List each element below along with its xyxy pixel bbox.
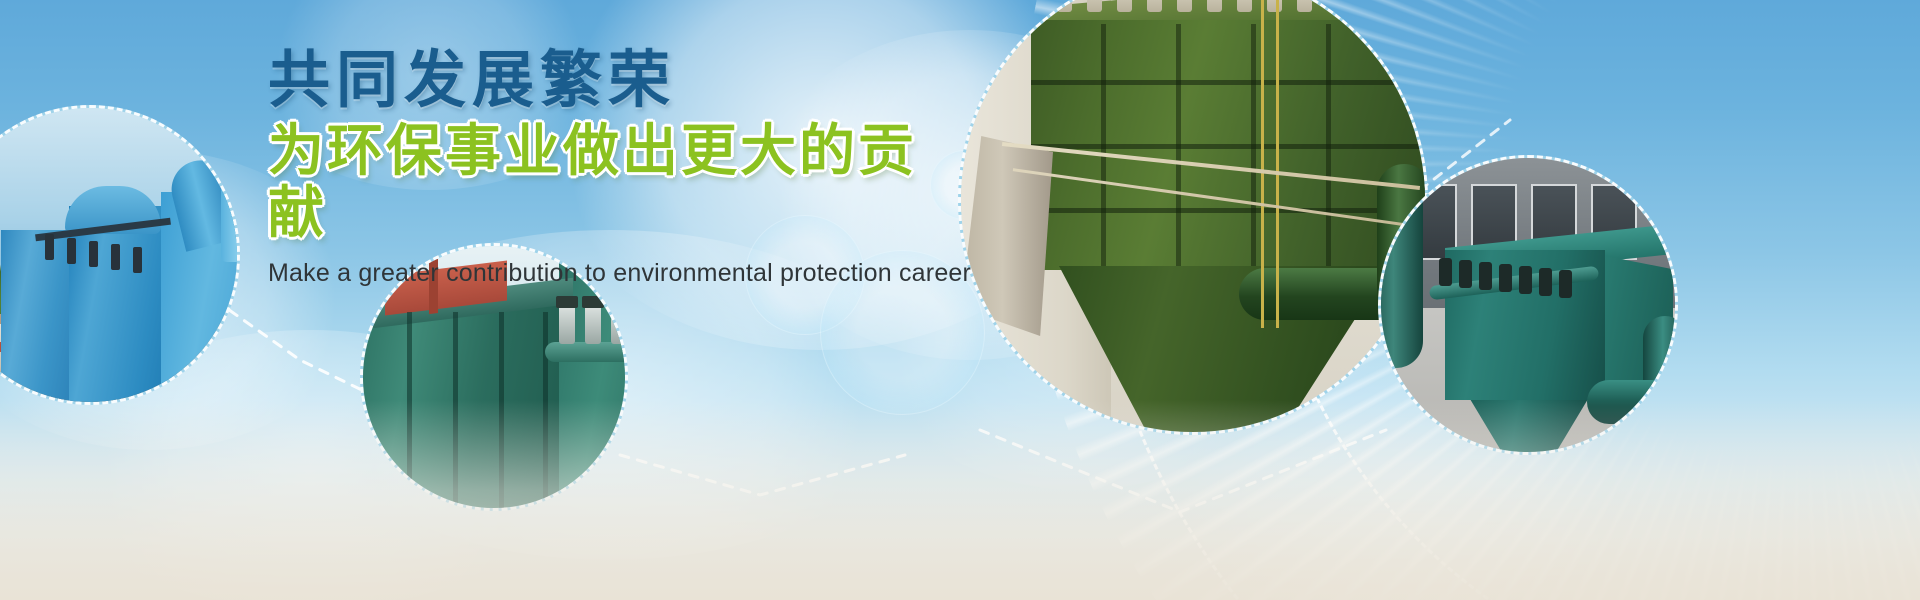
photo-large-green-hopper xyxy=(961,0,1425,432)
hero-banner: 共同发展繁荣 为环保事业做出更大的贡献 Make a greater contr… xyxy=(0,0,1920,600)
photo-blue-dust-collector xyxy=(0,108,237,402)
banner-text-block: 共同发展繁荣 为环保事业做出更大的贡献 Make a greater contr… xyxy=(268,48,948,288)
headline-primary: 共同发展繁荣 xyxy=(268,48,948,114)
medallion-teal-cyclone-collector[interactable] xyxy=(1378,155,1678,455)
photo-teal-cyclone-collector xyxy=(1381,158,1675,452)
subtitle-english: Make a greater contribution to environme… xyxy=(268,259,948,288)
medallion-large-green-hopper[interactable] xyxy=(958,0,1428,435)
medallion-blue-dust-collector[interactable] xyxy=(0,105,240,405)
headline-secondary: 为环保事业做出更大的贡献 xyxy=(268,120,948,245)
